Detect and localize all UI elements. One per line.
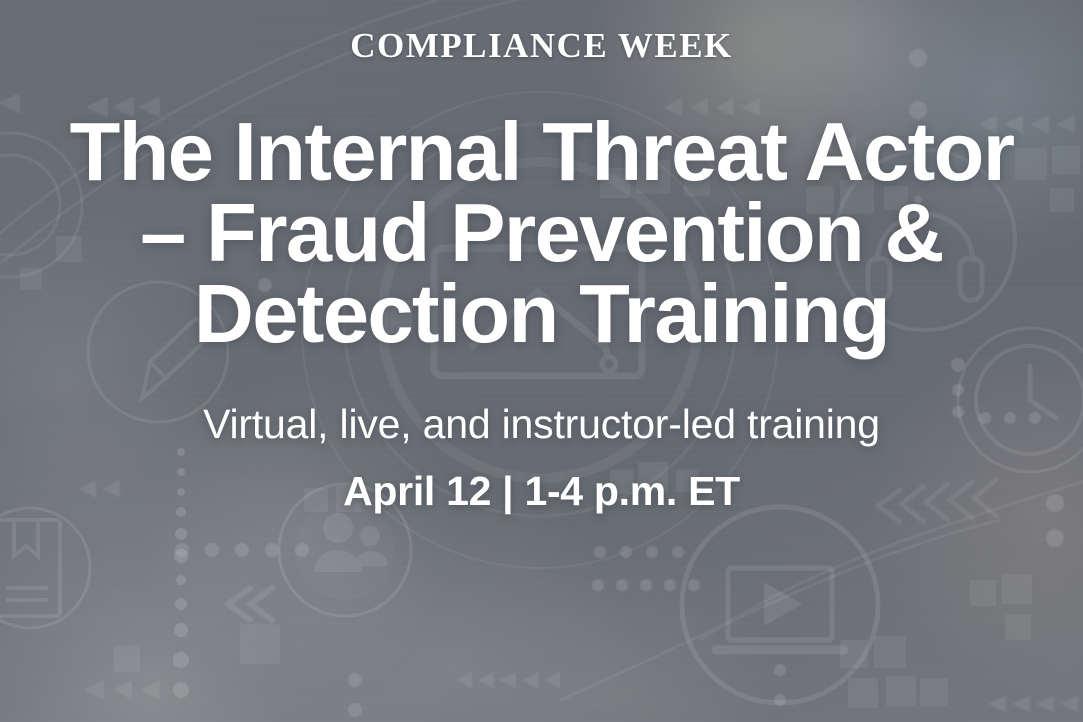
headline-line-2: – Fraud Prevention & — [19, 193, 1064, 274]
headline: The Internal Threat Actor – Fraud Preven… — [19, 112, 1064, 355]
headline-line-3: Detection Training — [19, 274, 1064, 355]
promo-banner: COMPLIANCE WEEK The Internal Threat Acto… — [0, 0, 1083, 722]
event-dateline: April 12 | 1-4 p.m. ET — [343, 468, 740, 515]
headline-line-1: The Internal Threat Actor — [19, 112, 1064, 193]
subtitle: Virtual, live, and instructor-led traini… — [203, 401, 880, 448]
compliance-week-logo: COMPLIANCE WEEK — [350, 26, 733, 66]
banner-content: COMPLIANCE WEEK The Internal Threat Acto… — [0, 0, 1083, 722]
